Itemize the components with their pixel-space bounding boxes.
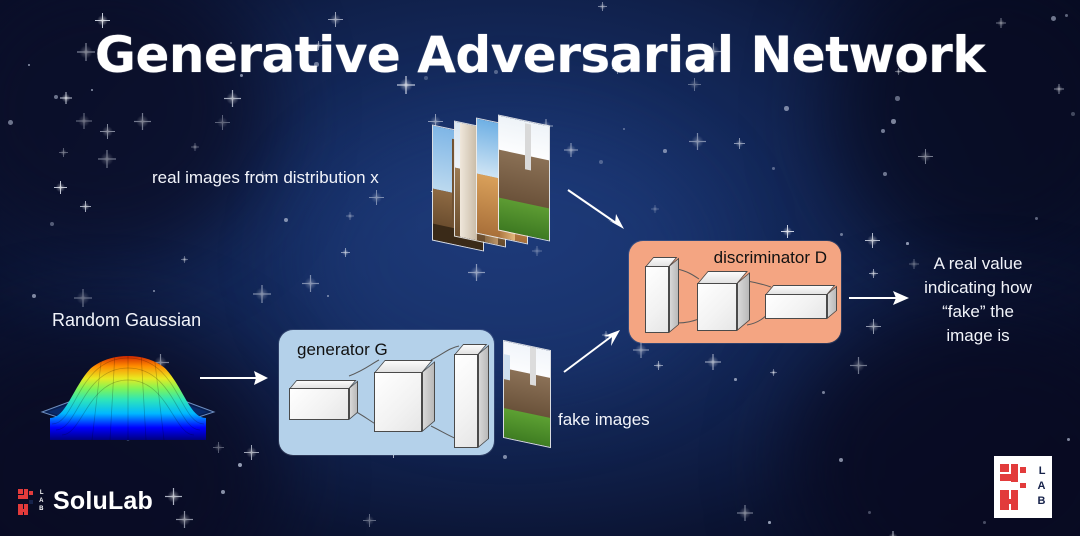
- output-line-4: image is: [896, 324, 1060, 348]
- star: [781, 225, 794, 238]
- star: [181, 256, 188, 263]
- output-description: A real value indicating how “fake” the i…: [896, 252, 1060, 349]
- star: [54, 95, 58, 99]
- star: [302, 275, 319, 292]
- star: [705, 354, 721, 370]
- real-images-label: real images from distribution x: [152, 167, 379, 190]
- star: [881, 129, 885, 133]
- slide-canvas: Generative Adversarial Network real imag…: [0, 0, 1080, 536]
- star: [840, 233, 843, 236]
- star: [772, 167, 775, 170]
- star: [768, 521, 771, 524]
- arrow-gaussian-to-generator: [200, 367, 270, 389]
- star: [213, 442, 224, 453]
- star: [76, 113, 92, 129]
- generator-block: [289, 380, 359, 420]
- discriminator-box[interactable]: discriminator D: [629, 241, 841, 343]
- star: [839, 458, 843, 462]
- star: [689, 133, 706, 150]
- arrow-fake-images-to-discriminator: [564, 330, 626, 374]
- star: [654, 361, 663, 370]
- random-gaussian-label: Random Gaussian: [52, 308, 201, 332]
- star: [80, 201, 91, 212]
- output-line-2: indicating how: [896, 276, 1060, 300]
- star: [623, 128, 625, 130]
- star: [191, 143, 199, 151]
- star: [891, 119, 896, 124]
- star: [244, 445, 259, 460]
- star: [886, 531, 900, 536]
- star: [822, 391, 825, 394]
- solulab-badge-mark: L A B: [1000, 464, 1046, 510]
- solulab-logo[interactable]: L A B SoluLab: [18, 487, 153, 516]
- star: [663, 149, 667, 153]
- star: [8, 120, 13, 125]
- generator-box[interactable]: generator G: [279, 330, 494, 455]
- arrow-real-images-to-discriminator: [568, 190, 630, 232]
- real-image-stack: [432, 118, 552, 258]
- star: [1051, 16, 1056, 21]
- star: [221, 490, 225, 494]
- output-line-3: “fake” the: [896, 300, 1060, 324]
- star: [327, 295, 329, 297]
- star: [1065, 14, 1068, 17]
- star: [734, 378, 737, 381]
- star: [100, 124, 115, 139]
- fake-images-label: fake images: [558, 409, 650, 432]
- star: [346, 212, 354, 220]
- star: [918, 149, 933, 164]
- star: [238, 463, 242, 467]
- discriminator-block: [697, 271, 749, 331]
- star: [224, 90, 241, 107]
- generator-block: [454, 344, 490, 448]
- star: [60, 92, 72, 104]
- star: [74, 289, 92, 307]
- star: [284, 218, 288, 222]
- solulab-logo-mark: L A B: [18, 489, 44, 515]
- star: [468, 264, 485, 281]
- star: [983, 521, 986, 524]
- star: [253, 285, 271, 303]
- star: [770, 369, 777, 376]
- star: [850, 357, 867, 374]
- star: [868, 511, 871, 514]
- star: [895, 96, 900, 101]
- real-image-thumb: [498, 114, 550, 241]
- solulab-wordmark: SoluLab: [53, 487, 153, 516]
- star: [98, 150, 116, 168]
- badge-letter-a: A: [1038, 481, 1046, 492]
- star: [564, 143, 578, 157]
- star: [651, 205, 659, 213]
- solulab-badge[interactable]: L A B: [994, 456, 1052, 518]
- star: [1071, 112, 1075, 116]
- gaussian-surface-plot: [40, 336, 216, 442]
- star: [599, 160, 603, 164]
- badge-letter-l: L: [1039, 466, 1046, 477]
- generator-block: [374, 360, 436, 432]
- star: [598, 2, 607, 11]
- discriminator-block: [765, 285, 835, 319]
- star: [1067, 438, 1070, 441]
- star: [54, 181, 67, 194]
- output-line-1: A real value: [896, 252, 1060, 276]
- star: [363, 514, 376, 527]
- star: [866, 319, 881, 334]
- star: [153, 290, 155, 292]
- star: [91, 89, 93, 91]
- star: [176, 511, 193, 528]
- star: [906, 242, 909, 245]
- star: [734, 138, 745, 149]
- star: [1035, 217, 1038, 220]
- discriminator-block: [645, 257, 681, 333]
- star: [134, 113, 151, 130]
- star: [328, 12, 343, 27]
- star: [59, 148, 68, 157]
- star: [1054, 84, 1064, 94]
- fake-image-thumb: [503, 340, 551, 448]
- star: [869, 269, 878, 278]
- star: [341, 248, 350, 257]
- star: [50, 222, 54, 226]
- star: [883, 172, 887, 176]
- star: [32, 294, 36, 298]
- star: [784, 106, 789, 111]
- page-title: Generative Adversarial Network: [0, 26, 1080, 84]
- star: [633, 342, 649, 358]
- star: [865, 233, 880, 248]
- star: [503, 455, 507, 459]
- star: [737, 505, 753, 521]
- star: [369, 190, 384, 205]
- star: [215, 115, 230, 130]
- badge-letter-b: B: [1038, 496, 1046, 507]
- star: [165, 488, 182, 505]
